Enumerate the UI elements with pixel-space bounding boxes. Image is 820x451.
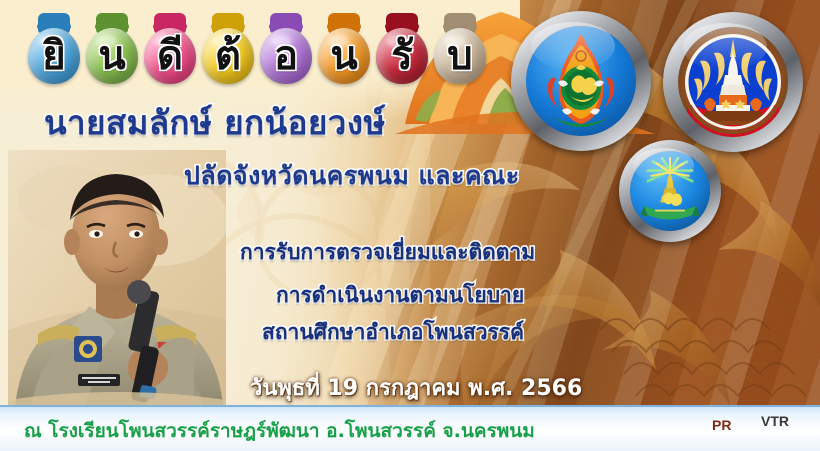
body-line-3: สถานศึกษาอำเภอโพนสวรรค์ xyxy=(262,316,524,349)
candy-letter-char: น xyxy=(84,27,140,85)
emblem-face xyxy=(630,151,710,231)
bar-wedge xyxy=(650,405,820,451)
nakhon-phanom-province-emblem xyxy=(663,12,803,152)
school-emblem xyxy=(619,140,721,242)
venue-text: ณ โรงเรียนโพนสวรรค์ราษฎร์พัฒนา อ.โพนสวรร… xyxy=(24,416,535,446)
welcome-poster: ยิ น ดี ต้ อ น xyxy=(0,0,820,451)
candy-letter-char: ต้ xyxy=(200,27,256,85)
body-line-2: การดำเนินงานตามนโยบาย xyxy=(276,279,524,312)
welcome-title: ยิ น ดี ต้ อ น xyxy=(26,8,486,92)
candy-letter-char: รั xyxy=(374,27,430,85)
candy-letter: น xyxy=(316,11,372,89)
candy-letter: รั xyxy=(374,11,430,89)
venue-bar: ณ โรงเรียนโพนสวรรค์ราษฎร์พัฒนา อ.โพนสวรร… xyxy=(0,405,820,451)
emblem-face xyxy=(526,26,636,136)
candy-letter: อ xyxy=(258,11,314,89)
ministry-of-education-emblem xyxy=(511,11,651,151)
guest-name: นายสมลักษ์ ยกน้อยวงษ์ xyxy=(44,96,386,149)
candy-letter: บ xyxy=(432,11,488,89)
emblem-face xyxy=(678,27,788,137)
candy-letter-char: ยิ xyxy=(26,27,82,85)
vtr-badge: VTR xyxy=(761,413,789,429)
candy-letter: ดี xyxy=(142,11,198,89)
candy-letter: น xyxy=(84,11,140,89)
guest-role: ปลัดจังหวัดนครพนม และคณะ xyxy=(184,156,520,196)
candy-letter-char: อ xyxy=(258,27,314,85)
candy-letter-char: น xyxy=(316,27,372,85)
candy-letter-char: ดี xyxy=(142,27,198,85)
pr-badge: PR xyxy=(712,417,731,433)
event-date: วันพุธที่ 19 กรกฎาคม พ.ศ. 2566 xyxy=(250,370,582,405)
candy-letter: ต้ xyxy=(200,11,256,89)
candy-letter: ยิ xyxy=(26,11,82,89)
body-line-1: การรับการตรวจเยี่ยมและติดตาม xyxy=(240,236,535,269)
candy-letter-char: บ xyxy=(432,27,488,85)
